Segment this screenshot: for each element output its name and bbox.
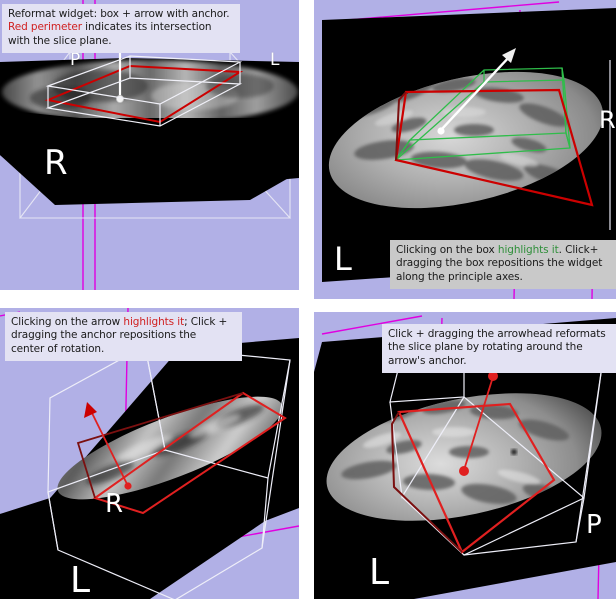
orientation-label-l: L: [70, 563, 90, 599]
callout-line: along the principle axes.: [396, 271, 610, 284]
callout-reformat-widget: Reformat widget: box + arrow with anchor…: [2, 4, 240, 53]
panel-arrowhead-rotate[interactable]: P L Click + dragging the arrowhead refor…: [314, 312, 616, 599]
orientation-label-r: R: [105, 491, 123, 517]
callout-line: center of rotation.: [11, 343, 236, 356]
callout-arrow-highlight: Clicking on the arrow highlights it; Cli…: [5, 312, 242, 361]
widget-anchor[interactable]: [459, 466, 469, 476]
orientation-label-r: R: [44, 146, 68, 180]
callout-arrowhead-rotate: Click + dragging the arrowhead reformats…: [382, 324, 616, 373]
callout-line: dragging the anchor repositions the: [11, 329, 236, 342]
callout-line: with the slice plane.: [8, 35, 234, 48]
widget-anchor[interactable]: [124, 482, 131, 489]
widget-anchor[interactable]: [437, 127, 444, 134]
callout-line: Clicking on the box highlights it. Click…: [396, 244, 610, 257]
panel-reformat-widget-overview[interactable]: R P L Reformat widget: box + arrow with …: [0, 0, 299, 290]
brain-axial-slice: [2, 60, 298, 124]
orientation-label-r: R: [599, 108, 616, 132]
callout-line: Clicking on the arrow highlights it; Cli…: [11, 316, 236, 329]
callout-box-highlight: Clicking on the box highlights it. Click…: [390, 240, 616, 289]
widget-anchor[interactable]: [116, 95, 123, 102]
callout-line: Reformat widget: box + arrow with anchor…: [8, 8, 234, 21]
panel-box-highlight[interactable]: L R Clicking on the box highlights it. C…: [314, 0, 616, 299]
panel-arrow-highlight[interactable]: R L Clicking on the arrow highlights it;…: [0, 308, 299, 599]
orientation-label-p: P: [70, 52, 80, 69]
callout-line: arrow's anchor.: [388, 355, 610, 368]
orientation-label-l: L: [334, 243, 352, 275]
callout-line: dragging the box repositions the widget: [396, 257, 610, 270]
orientation-label-l: L: [270, 52, 279, 69]
orientation-label-p: P: [586, 512, 602, 538]
orientation-label-l: L: [369, 555, 389, 591]
reformat-widget-figure: R P L Reformat widget: box + arrow with …: [0, 0, 616, 599]
callout-line: Red perimeter indicates its intersection: [8, 21, 234, 34]
callout-line: the slice plane by rotating around the: [388, 341, 610, 354]
callout-line: Click + dragging the arrowhead reformats: [388, 328, 610, 341]
